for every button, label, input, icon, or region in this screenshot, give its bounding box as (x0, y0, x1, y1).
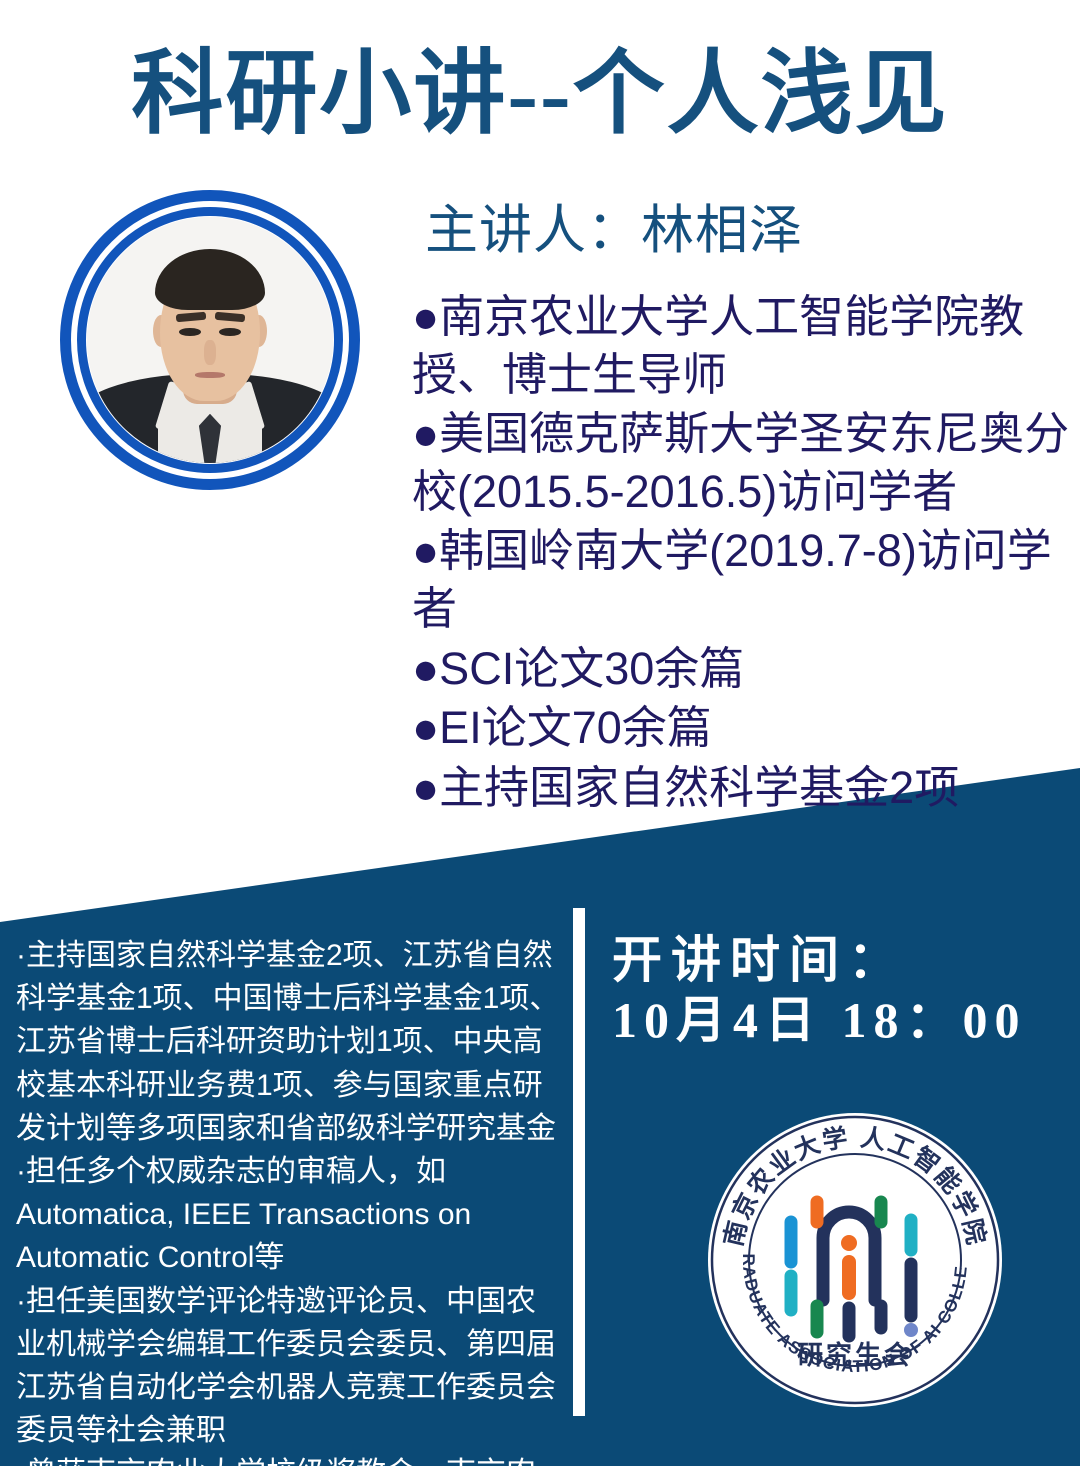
achievement-details: ·主持国家自然科学基金2项、江苏省自然科学基金1项、中国博士后科学基金1项、江苏… (16, 934, 564, 1466)
detail-paragraph: ·担任美国数学评论特邀评论员、中国农业机械学会编辑工作委员会委员、第四届江苏省自… (16, 1280, 564, 1453)
bio-item: ●主持国家自然科学基金2项 (412, 759, 1072, 817)
avatar (60, 190, 360, 490)
avatar-outer-ring (60, 190, 360, 490)
page-title: 科研小讲--个人浅见 (0, 46, 1080, 143)
detail-paragraph: ·主持国家自然科学基金2项、江苏省自然科学基金1项、中国博士后科学基金1项、江苏… (16, 934, 564, 1150)
event-time-value: 10月4日 18：00 (612, 990, 1027, 1050)
event-time: 开讲时间： 10月4日 18：00 (612, 930, 1027, 1050)
speaker-bio-list: ●南京农业大学人工智能学院教授、博士生导师 ●美国德克萨斯大学圣安东尼奥分校(2… (412, 288, 1072, 818)
bio-item: ●SCI论文30余篇 (412, 640, 1072, 698)
detail-paragraph: ·担任多个权威杂志的审稿人，如Automatica, IEEE Transact… (16, 1150, 564, 1280)
bio-item: ●EI论文70余篇 (412, 699, 1072, 757)
event-time-label: 开讲时间： (612, 930, 1027, 990)
logo-center-text: 研究生会 (797, 1340, 913, 1370)
vertical-divider (573, 908, 585, 1416)
speaker-name: 主讲人：林相泽 (425, 188, 803, 264)
poster-root: 科研小讲--个人浅见 主讲人：林相泽 ●南京农业大学人工智能学院教授、博士 (0, 0, 1080, 1466)
bio-item: ●南京农业大学人工智能学院教授、博士生导师 (412, 288, 1072, 403)
detail-paragraph: ·曾获南京农业大学校级奖教金、南京农业大学优秀研究生导师、2020年江苏省自动化… (16, 1452, 564, 1466)
organization-logo: 南京农业大学 人工智能学院 GRADUATE ASSOCIATION OF AI… (705, 1110, 1005, 1410)
bio-item: ●韩国岭南大学(2019.7-8)访问学者 (412, 522, 1072, 637)
bio-item: ●美国德克萨斯大学圣安东尼奥分校(2015.5-2016.5)访问学者 (412, 405, 1072, 520)
